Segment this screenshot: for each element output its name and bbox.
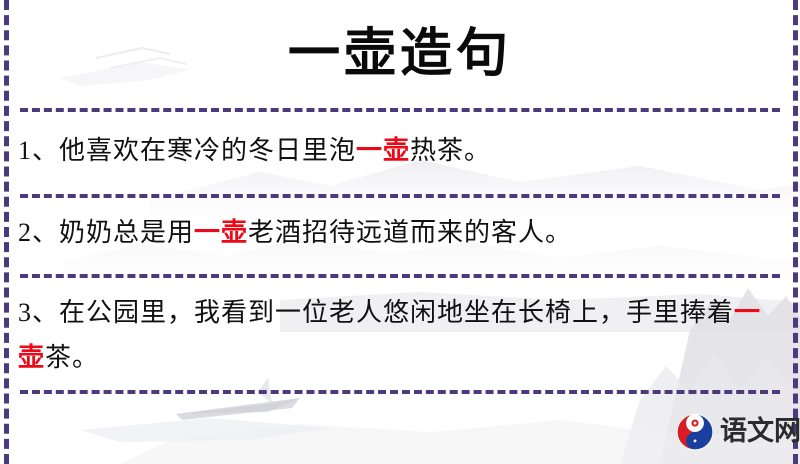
divider-3: [20, 390, 780, 394]
sentence-text-after-1: 热茶。: [410, 136, 491, 165]
frame-left-border: [4, 0, 9, 464]
sentence-number-3: 3、: [18, 298, 59, 327]
sentence-number-2: 2、: [18, 218, 59, 247]
sentence-text-before-1: 他喜欢在寒冷的冬日里泡: [59, 136, 356, 165]
site-watermark-label: 语文网: [720, 417, 800, 447]
frame-right-border: [793, 0, 798, 464]
slide-page: 一壶造句 1、他喜欢在寒冷的冬日里泡一壶热茶。 2、奶奶总是用一壶老酒招待远道而…: [0, 0, 800, 464]
sentence-text-before-3: 在公园里，我看到一位老人悠闲地坐在长椅上，手里捧着: [59, 298, 734, 327]
sentence-item-3: 3、在公园里，我看到一位老人悠闲地坐在长椅上，手里捧着一壶茶。: [18, 290, 780, 380]
keyword-highlight-1: 一壶: [356, 136, 410, 165]
site-watermark: 语文网: [676, 413, 800, 451]
sentence-text-after-2: 老酒招待远道而来的客人。: [248, 218, 572, 247]
divider-1: [20, 194, 780, 198]
page-title: 一壶造句: [0, 22, 800, 86]
sentence-number-1: 1、: [18, 136, 59, 165]
keyword-highlight-2: 一壶: [194, 218, 248, 247]
divider-2: [20, 274, 780, 278]
sentence-text-before-2: 奶奶总是用: [59, 218, 194, 247]
taiji-circle-icon: [676, 413, 714, 451]
sentence-text-after-3: 茶。: [45, 343, 99, 372]
divider-top: [20, 108, 780, 112]
sentence-item-1: 1、他喜欢在寒冷的冬日里泡一壶热茶。: [18, 128, 780, 173]
sentence-item-2: 2、奶奶总是用一壶老酒招待远道而来的客人。: [18, 210, 780, 255]
